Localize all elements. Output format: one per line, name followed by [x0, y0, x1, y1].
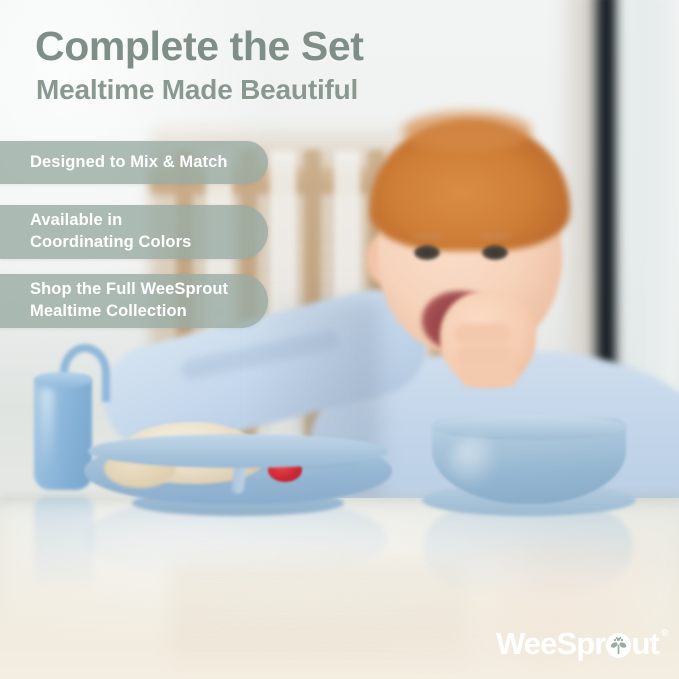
child-finger: [456, 345, 514, 367]
child-eye-right: [482, 245, 508, 260]
child-brow-right: [480, 233, 510, 239]
page-subtitle: Mealtime Made Beautiful: [36, 75, 358, 106]
registered-trademark-mark: ®: [661, 628, 668, 639]
cup-rim: [34, 372, 92, 388]
brand-logo-text: WeeSpr ut: [496, 628, 659, 659]
promo-image: Complete the Set Mealtime Made Beautiful…: [0, 0, 679, 679]
cup-highlight: [40, 388, 54, 472]
product-divided-plate: [84, 432, 392, 516]
brand-name-part2: ut: [631, 628, 658, 659]
child-finger: [460, 365, 518, 387]
feature-pill-mix-and-match: Designed to Mix & Match: [0, 141, 268, 184]
child-hair-wisp: [402, 111, 532, 151]
feature-pill-coordinating-colors: Available in Coordinating Colors: [0, 205, 268, 259]
child-finger: [454, 323, 512, 345]
feature-pill-label: Available in Coordinating Colors: [0, 210, 215, 254]
brand-logo: WeeSpr ut ®: [496, 628, 668, 659]
brand-name-part1: WeeSpr: [496, 628, 605, 659]
bowl-highlight: [448, 436, 500, 490]
feature-pill-label: Designed to Mix & Match: [0, 152, 252, 174]
plate-rim: [88, 434, 388, 468]
feature-pill-full-collection: Shop the Full WeeSprout Mealtime Collect…: [0, 274, 268, 328]
sprout-icon: [606, 633, 631, 658]
child-eye-left: [414, 245, 440, 260]
page-title: Complete the Set: [35, 24, 364, 68]
feature-pill-label: Shop the Full WeeSprout Mealtime Collect…: [0, 279, 252, 323]
bowl-rim: [432, 415, 626, 439]
product-suction-bowl: [422, 418, 636, 522]
child-brow-left: [412, 233, 442, 239]
